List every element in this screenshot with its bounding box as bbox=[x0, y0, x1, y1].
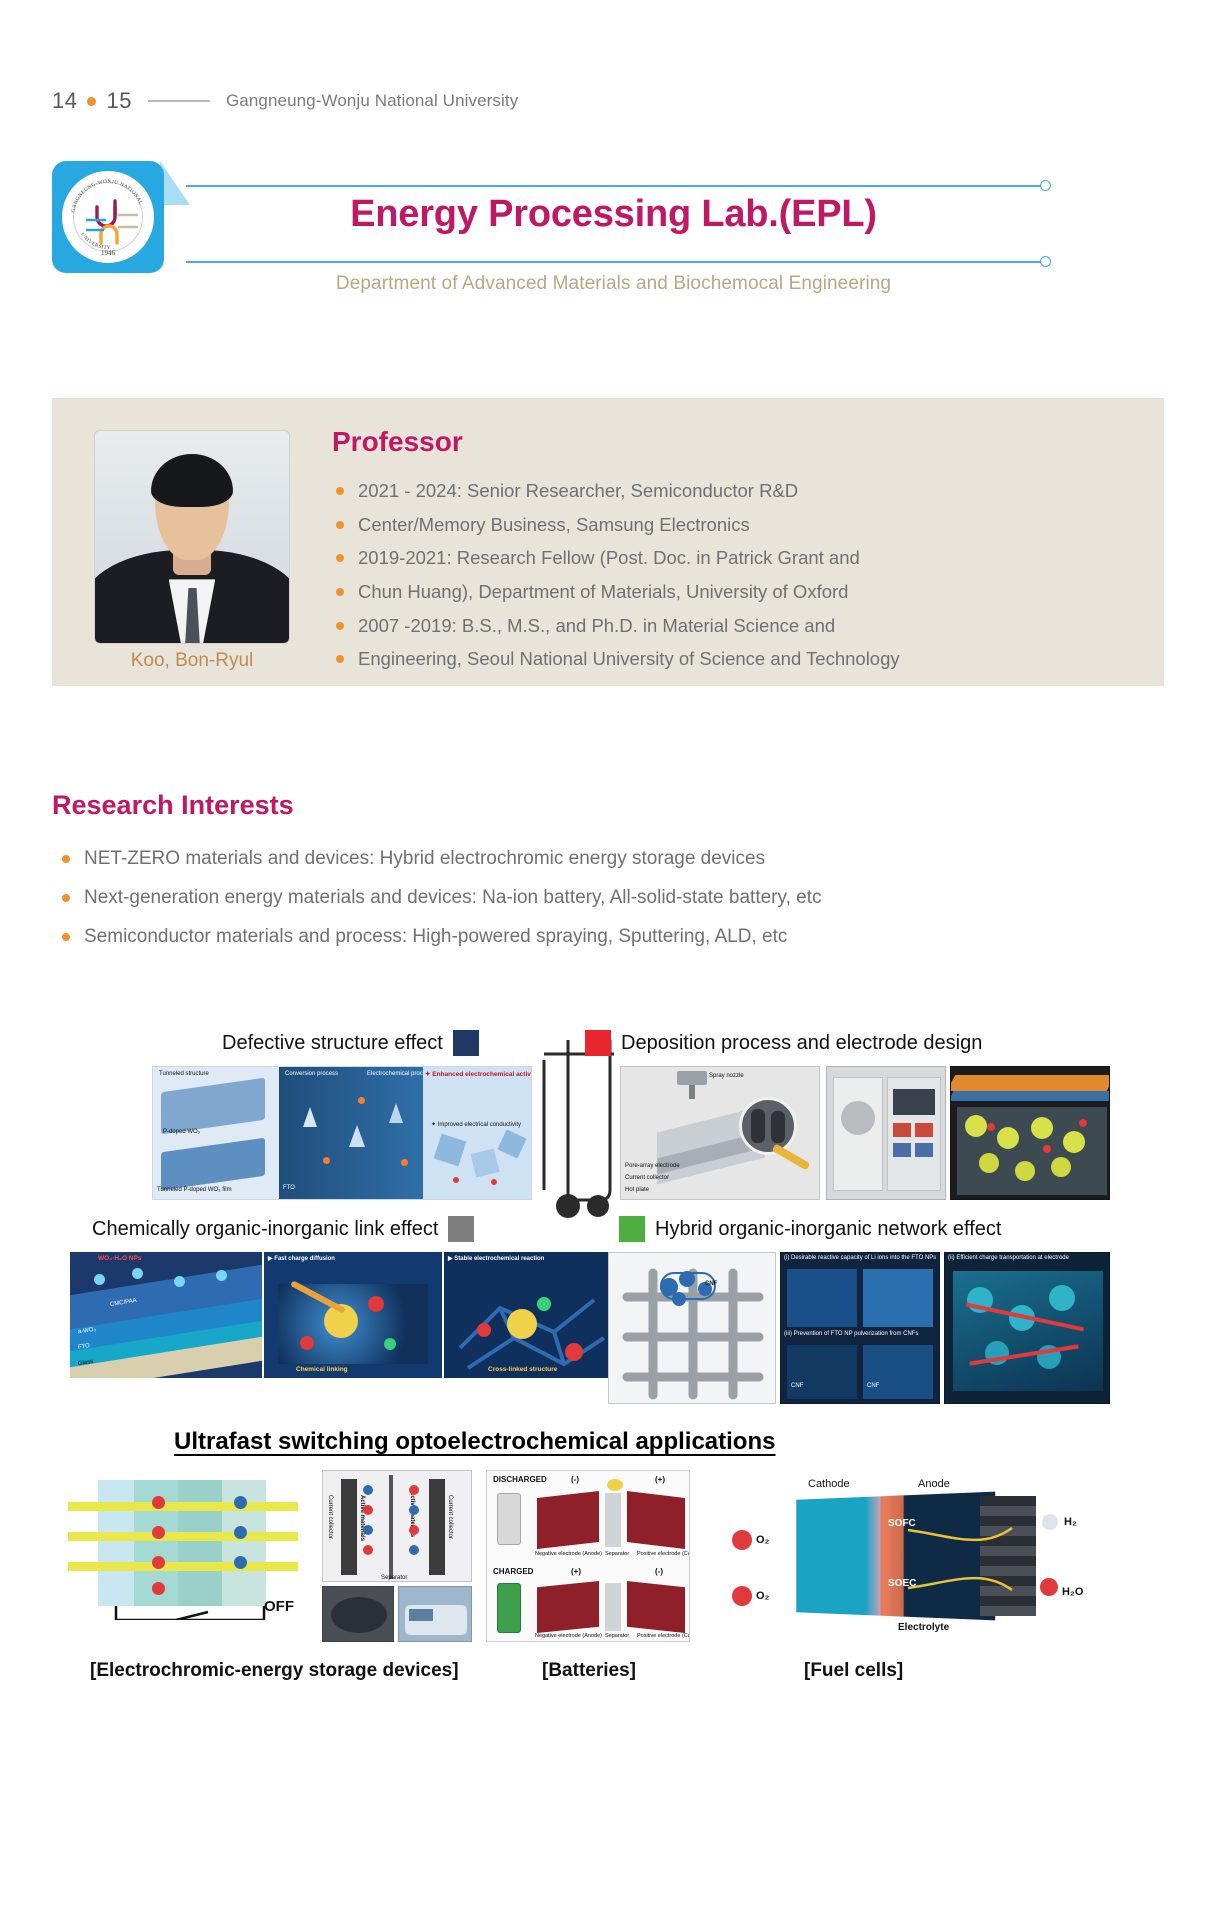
page-number-left: 14 bbox=[52, 88, 77, 114]
professor-photo bbox=[94, 430, 290, 644]
header-rule bbox=[148, 100, 210, 102]
panel-stable-reaction: ▶ Stable electrochemical reaction Cross-… bbox=[444, 1252, 622, 1378]
professor-card: Koo, Bon-Ryul Professor 2021 - 2024: Sen… bbox=[52, 398, 1164, 686]
panel-batteries: DISCHARGED (-) (+) Negative electrode (A… bbox=[486, 1470, 690, 1642]
list-item: Chun Huang), Department of Materials, Un… bbox=[332, 575, 1132, 609]
caption-deposition-row: Deposition process and electrode design bbox=[585, 1030, 982, 1056]
lab-title-band: GANGNEUNG-WONJU NATIONAL UNIVERSITY 1946… bbox=[52, 155, 1164, 295]
professor-details: Professor 2021 - 2024: Senior Researcher… bbox=[332, 426, 1132, 676]
list-item: NET-ZERO materials and devices: Hybrid e… bbox=[60, 840, 1110, 879]
title-line-top bbox=[186, 185, 1041, 187]
panel-deposition-process: Spray nozzle Pore-array electrode Curren… bbox=[620, 1066, 820, 1200]
running-header: 14 15 Gangneung-Wonju National Universit… bbox=[52, 88, 518, 114]
list-item: Engineering, Seoul National University o… bbox=[332, 642, 1132, 676]
list-item: 2007 -2019: B.S., M.S., and Ph.D. in Mat… bbox=[332, 609, 1132, 643]
panel-fuel-cells: Cathode Anode SOFC SOEC Electrolyte O₂ O… bbox=[712, 1470, 1092, 1642]
panel-charge-transport-3d: (ii) Efficient charge transportation at … bbox=[944, 1252, 1110, 1404]
page-separator-dot bbox=[87, 97, 96, 106]
caption-applications: Ultrafast switching optoelectrochemical … bbox=[174, 1428, 775, 1456]
panel-electrochromic-device: OFF bbox=[68, 1470, 318, 1620]
panel-fast-charge-diffusion: ▶ Fast charge diffusion Chemical linking bbox=[264, 1252, 442, 1378]
caption-defective-row: Defective structure effect bbox=[222, 1030, 479, 1056]
panel-defective-structure: Tunneled structure P-doped WO₃ Tunneled … bbox=[152, 1066, 532, 1200]
professor-name: Koo, Bon-Ryul bbox=[94, 650, 290, 672]
panel-electrode-schematic: Current collector Active materials Curre… bbox=[322, 1470, 472, 1582]
caption-hybrid-network-row: Hybrid organic-inorganic network effect bbox=[619, 1216, 1001, 1242]
research-interests-heading: Research Interests bbox=[52, 790, 294, 821]
university-name: Gangneung-Wonju National University bbox=[226, 91, 518, 111]
label-off: OFF bbox=[264, 1598, 294, 1615]
professor-photo-wrap bbox=[94, 430, 290, 644]
university-seal-icon: GANGNEUNG-WONJU NATIONAL UNIVERSITY 1946 bbox=[62, 171, 154, 263]
panel-chemical-link: WO₃·H₂O NPs CMC/PAA a-WO₃ FTO Glass bbox=[70, 1252, 262, 1378]
caption-chemical-link: Chemically organic-inorganic link effect bbox=[92, 1218, 438, 1241]
swatch-defective-icon bbox=[453, 1030, 479, 1056]
lab-title: Energy Processing Lab.(EPL) bbox=[186, 195, 1041, 235]
caption-fuel-cells: [Fuel cells] bbox=[804, 1660, 903, 1682]
research-interests-list: NET-ZERO materials and devices: Hybrid e… bbox=[60, 840, 1110, 957]
svg-text:1946: 1946 bbox=[101, 249, 116, 257]
list-item: 2019-2021: Research Fellow (Post. Doc. i… bbox=[332, 541, 1132, 575]
photo-bus-application bbox=[398, 1586, 472, 1642]
brochure-page: 14 15 Gangneung-Wonju National Universit… bbox=[0, 0, 1216, 1910]
swatch-chemical-link-icon bbox=[448, 1216, 474, 1242]
panel-deposition-3d-model bbox=[950, 1066, 1110, 1200]
list-item: Center/Memory Business, Samsung Electron… bbox=[332, 508, 1132, 542]
professor-section-label: Professor bbox=[332, 426, 1132, 458]
title-line-bottom bbox=[186, 261, 1041, 263]
research-figure: Defective structure effect Deposition pr… bbox=[52, 1030, 1164, 1850]
swatch-hybrid-network-icon bbox=[619, 1216, 645, 1242]
photo-device-sample bbox=[322, 1586, 394, 1642]
list-item: Semiconductor materials and process: Hig… bbox=[60, 918, 1110, 957]
panel-cnf-network: CNF bbox=[608, 1252, 776, 1404]
caption-batteries: [Batteries] bbox=[542, 1660, 636, 1682]
title-node-bottom-icon bbox=[1040, 256, 1051, 267]
page-number-right: 15 bbox=[106, 88, 131, 114]
caption-electrochromic-devices: [Electrochromic-energy storage devices] bbox=[90, 1660, 459, 1682]
list-item: 2021 - 2024: Senior Researcher, Semicond… bbox=[332, 474, 1132, 508]
caption-chemical-link-row: Chemically organic-inorganic link effect bbox=[92, 1216, 474, 1242]
list-item: Next-generation energy materials and dev… bbox=[60, 879, 1110, 918]
caption-hybrid-network: Hybrid organic-inorganic network effect bbox=[655, 1218, 1001, 1241]
title-node-top-icon bbox=[1040, 180, 1051, 191]
panel-deposition-equipment bbox=[826, 1066, 946, 1200]
panel-cnf-micrographs: (i) Desirable reactive capacity of Li io… bbox=[780, 1252, 940, 1404]
department-name: Department of Advanced Materials and Bio… bbox=[186, 273, 1041, 295]
caption-defective: Defective structure effect bbox=[222, 1032, 443, 1055]
swatch-deposition-icon bbox=[585, 1030, 611, 1056]
svg-text:GANGNEUNG-WONJU NATIONAL: GANGNEUNG-WONJU NATIONAL bbox=[70, 179, 143, 213]
caption-deposition: Deposition process and electrode design bbox=[621, 1032, 982, 1055]
university-logo: GANGNEUNG-WONJU NATIONAL UNIVERSITY 1946 bbox=[52, 161, 164, 273]
professor-bullet-list: 2021 - 2024: Senior Researcher, Semicond… bbox=[332, 474, 1132, 676]
